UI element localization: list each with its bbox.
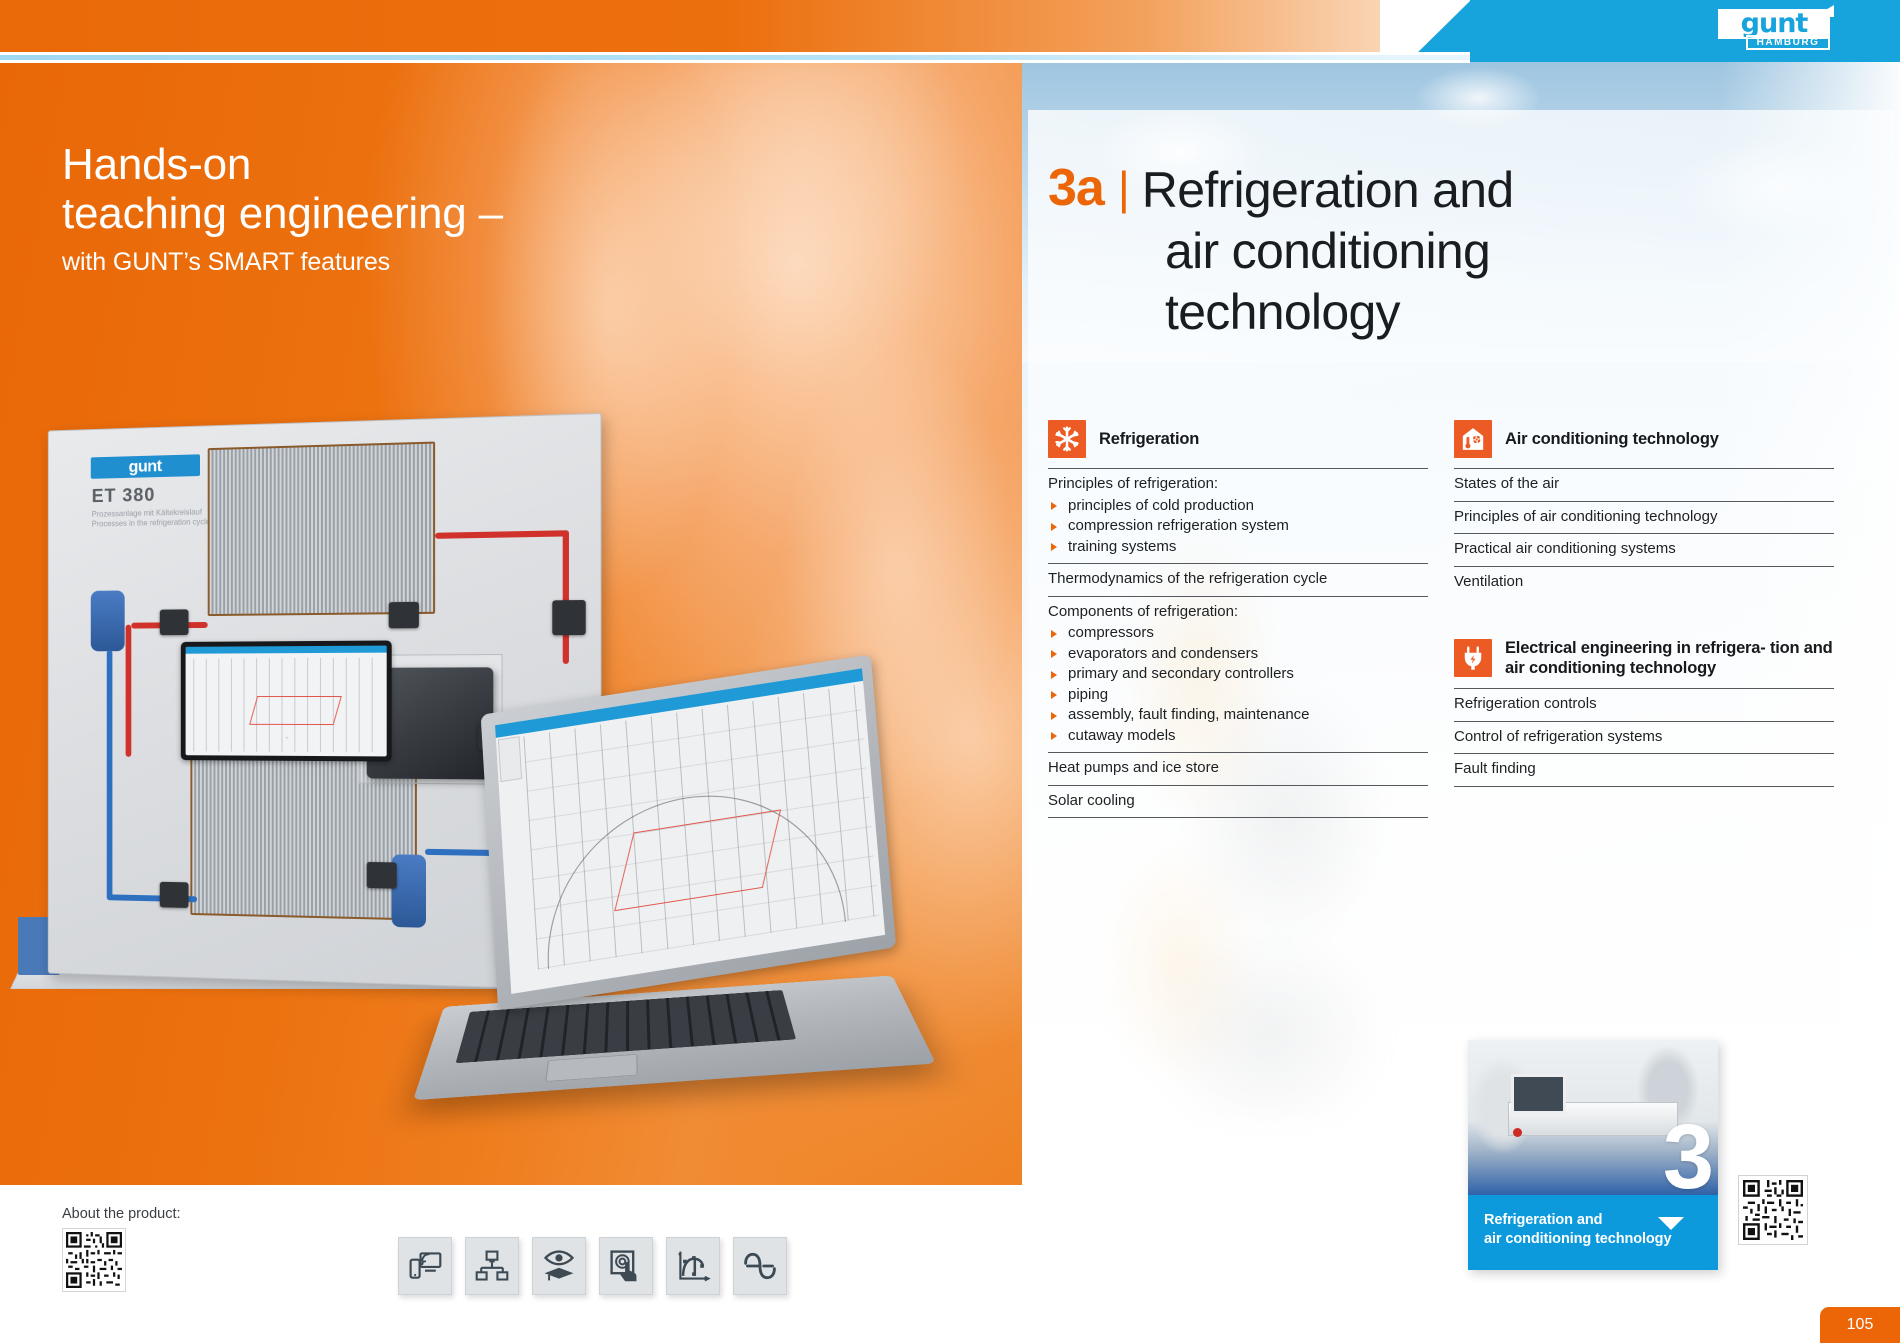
snowflake-icon xyxy=(1048,420,1086,458)
topic-group-title: Components of refrigeration: xyxy=(1048,602,1428,623)
topic-group: Fault finding xyxy=(1454,753,1834,787)
topic-group: Refrigeration controls xyxy=(1454,688,1834,721)
gunt-logo: gunt HAMBURG xyxy=(1718,9,1830,53)
valve-5 xyxy=(160,882,189,908)
topic-group-title: Fault finding xyxy=(1454,759,1834,780)
list-item: assembly, fault finding, maintenance xyxy=(1048,705,1428,726)
laptop-base xyxy=(413,975,936,1100)
topic-group: Solar cooling xyxy=(1048,785,1428,819)
chapter-number: 3a xyxy=(1048,160,1104,216)
qr-code-product[interactable] xyxy=(62,1228,126,1292)
section-title-electrical: Electrical engineering in refrigera- tio… xyxy=(1505,638,1834,678)
section-title-refrigeration: Refrigeration xyxy=(1099,429,1199,449)
product-brand-plate-text: gunt xyxy=(91,454,200,479)
process-diagram-icon[interactable] xyxy=(666,1237,720,1295)
topic-group-title: Ventilation xyxy=(1454,572,1834,593)
chapter-card-label: Refrigeration and air conditioning techn… xyxy=(1484,1211,1671,1249)
chapter-card-label-bar[interactable]: Refrigeration and air conditioning techn… xyxy=(1468,1195,1718,1270)
qr-code-chapter-icon xyxy=(1743,1180,1803,1240)
chapter-separator: | xyxy=(1118,160,1130,216)
page-title: 3a | Refrigeration and air conditioning … xyxy=(1048,160,1513,343)
topic-group: Ventilation xyxy=(1454,566,1834,599)
list-item: principles of cold production xyxy=(1048,496,1428,517)
topic-group-title: Control of refrigeration systems xyxy=(1454,727,1834,748)
topic-group: Control of refrigeration systems xyxy=(1454,721,1834,754)
feature-icon-row xyxy=(398,1237,787,1295)
topic-columns: Refrigeration Principles of refrigeratio… xyxy=(1048,420,1858,818)
topic-group-title: Thermodynamics of the refrigeration cycl… xyxy=(1048,569,1428,590)
chapter-navigation-card[interactable]: 3 Refrigeration and air conditioning tec… xyxy=(1468,1040,1718,1270)
pipe-red-top xyxy=(435,530,569,539)
condenser-coil xyxy=(208,442,435,617)
section-spacer xyxy=(1454,598,1834,638)
qr-code-product-icon xyxy=(66,1232,122,1288)
chapter-card-label-line-2: air conditioning technology xyxy=(1484,1230,1671,1249)
header-rule xyxy=(0,52,1470,63)
chapter-card-display xyxy=(1511,1074,1566,1114)
topic-group: Principles of refrigeration: principles … xyxy=(1048,468,1428,563)
topic-bullets: compressors evaporators and condensers p… xyxy=(1048,623,1428,746)
valve-3 xyxy=(552,600,585,635)
chapter-title-line-3: technology xyxy=(1165,282,1400,343)
eye-graduation-cap-icon[interactable] xyxy=(532,1237,586,1295)
chapter-card-label-line-1: Refrigeration and xyxy=(1484,1211,1671,1230)
list-item: cutaway models xyxy=(1048,726,1428,747)
topic-group-title: Solar cooling xyxy=(1048,791,1428,812)
power-plug-bolt-icon xyxy=(1454,639,1492,677)
headline-line-2: teaching engineering – xyxy=(62,189,762,238)
topic-group: Practical air conditioning systems xyxy=(1454,533,1834,566)
topic-group: Thermodynamics of the refrigeration cycl… xyxy=(1048,563,1428,596)
house-climate-icon xyxy=(1454,420,1492,458)
receiver-vessel xyxy=(91,590,125,651)
laptop-touchpad[interactable] xyxy=(545,1054,637,1082)
touchscreen-hand-icon[interactable] xyxy=(599,1237,653,1295)
tablet-screen xyxy=(186,646,387,757)
software-home-icon[interactable] xyxy=(498,736,522,782)
list-item: training systems xyxy=(1048,537,1428,558)
product-model-label: ET 380 xyxy=(92,485,156,508)
gunt-logo-subtitle: HAMBURG xyxy=(1746,35,1830,50)
sine-wave-icon[interactable] xyxy=(733,1237,787,1295)
topic-column-right: Air conditioning technology States of th… xyxy=(1454,420,1834,818)
list-item: piping xyxy=(1048,685,1428,706)
chapter-card-photo: 3 xyxy=(1468,1040,1718,1195)
section-header-electrical: Electrical engineering in refrigera- tio… xyxy=(1454,638,1834,678)
panel-tablet-display[interactable] xyxy=(181,640,392,761)
product-photo: gunt ET 380 Prozessanlage mit Kältekreis… xyxy=(18,352,1018,1182)
section-header-refrigeration: Refrigeration xyxy=(1048,420,1428,458)
pipe-red-right xyxy=(563,530,569,664)
topic-group-title: Principles of air conditioning technolog… xyxy=(1454,507,1834,528)
chevron-down-icon[interactable] xyxy=(1658,1217,1684,1230)
topic-group-title: Practical air conditioning systems xyxy=(1454,539,1834,560)
tablet-cycle-polygon xyxy=(249,695,342,724)
list-item: compressors xyxy=(1048,623,1428,644)
laptop xyxy=(371,670,933,1173)
headline-subline: with GUNT’s SMART features xyxy=(62,248,762,277)
chapter-big-number: 3 xyxy=(1663,1111,1710,1195)
pipe-blue-left xyxy=(107,650,113,899)
left-promo-panel: Hands-on teaching engineering – with GUN… xyxy=(0,62,1022,1185)
laptop-lid xyxy=(481,654,897,1010)
topic-group: Heat pumps and ice store xyxy=(1048,752,1428,785)
headline-line-1: Hands-on xyxy=(62,140,762,189)
topic-group-title: Principles of refrigeration: xyxy=(1048,474,1428,495)
about-the-product-label: About the product: xyxy=(62,1206,181,1222)
qr-code-chapter[interactable] xyxy=(1738,1175,1808,1245)
list-item: evaporators and condensers xyxy=(1048,644,1428,665)
topic-group-title: Heat pumps and ice store xyxy=(1048,758,1428,779)
tablet-titlebar xyxy=(186,646,387,654)
topic-group-title: States of the air xyxy=(1454,474,1834,495)
topic-bullets: principles of cold production compressio… xyxy=(1048,496,1428,558)
network-topology-icon[interactable] xyxy=(465,1237,519,1295)
list-item: primary and secondary controllers xyxy=(1048,664,1428,685)
topic-group: Principles of air conditioning technolog… xyxy=(1454,501,1834,534)
page-number: 105 xyxy=(1820,1307,1900,1343)
topic-column-left: Refrigeration Principles of refrigeratio… xyxy=(1048,420,1428,818)
catalog-page: gunt HAMBURG Hands-on teaching engineeri… xyxy=(0,0,1900,1343)
valve-1 xyxy=(160,609,189,635)
mobile-wireless-display-icon[interactable] xyxy=(398,1237,452,1295)
page-header-bar: gunt HAMBURG xyxy=(0,0,1900,62)
chapter-title-line-2: air conditioning xyxy=(1165,221,1490,282)
valve-2 xyxy=(389,602,419,629)
pipe-red-vertical xyxy=(126,625,132,757)
list-item: compression refrigeration system xyxy=(1048,516,1428,537)
chapter-title-line-1: Refrigeration and xyxy=(1142,160,1514,221)
section-header-air-conditioning: Air conditioning technology xyxy=(1454,420,1834,458)
topic-group: Components of refrigeration: compressors… xyxy=(1048,596,1428,753)
promo-headline: Hands-on teaching engineering – with GUN… xyxy=(62,140,762,277)
topic-group-title: Refrigeration controls xyxy=(1454,694,1834,715)
section-title-air-conditioning: Air conditioning technology xyxy=(1505,429,1719,449)
topic-group: States of the air xyxy=(1454,468,1834,501)
laptop-screen xyxy=(495,668,885,994)
header-blue-band xyxy=(1470,0,1900,62)
